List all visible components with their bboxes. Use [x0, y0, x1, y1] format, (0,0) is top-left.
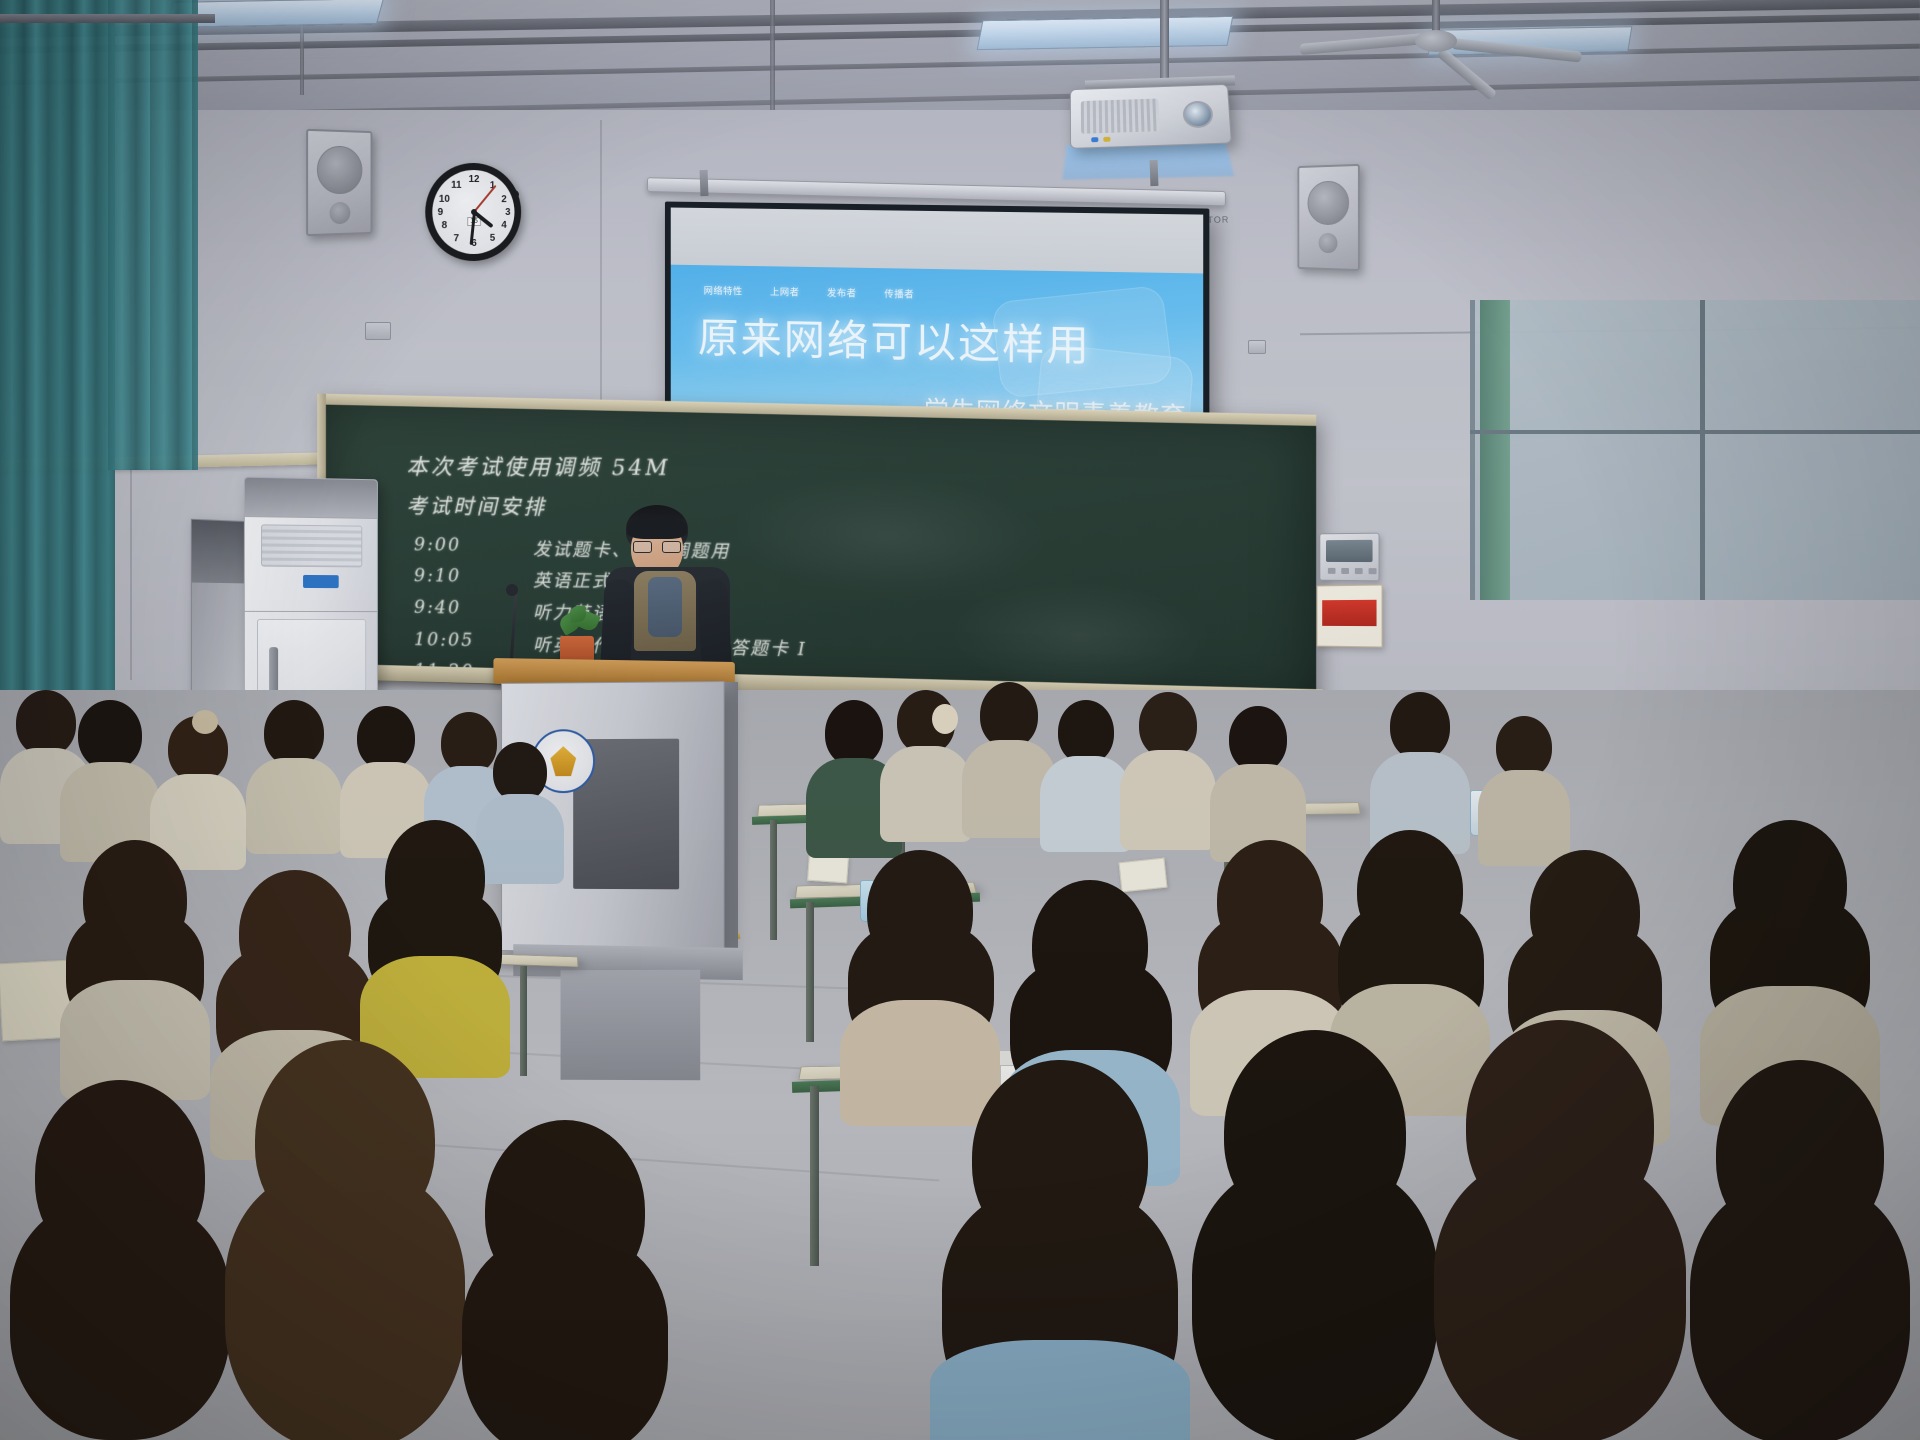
student-head: [825, 700, 883, 766]
student: [880, 690, 972, 840]
wall-safety-notice: [1317, 584, 1383, 647]
projector-power-led: [1091, 137, 1098, 142]
cabinet-top-panel: [245, 478, 377, 518]
wall-seam-vertical-2: [600, 120, 602, 420]
projector-status-led: [1103, 137, 1110, 142]
student: [1210, 706, 1306, 860]
student-body: [1120, 750, 1216, 850]
student-head: [1229, 706, 1287, 772]
window-curtain-left-inner: [108, 0, 198, 470]
window-mullion-1: [1700, 300, 1705, 600]
student-head: [1496, 716, 1552, 778]
clock-center-pin: [471, 209, 477, 215]
classroom-photo: 12 1 2 3 4 5 6 7 8 9 10 11 15 PROJECTOR: [0, 0, 1920, 1440]
hair-bun: [932, 704, 958, 734]
student-hair: [1690, 1184, 1910, 1440]
slide-nav-item-2[interactable]: 发布者: [827, 285, 857, 299]
student: [60, 700, 160, 860]
student-body: [246, 758, 342, 854]
student: [360, 820, 510, 1070]
student: [0, 1080, 240, 1440]
blackboard-line-2: 考试时间安排: [406, 490, 547, 521]
clock-number: 7: [449, 233, 463, 244]
student-hair: [10, 1200, 230, 1440]
clock-number: 9: [433, 207, 447, 218]
wall-speaker-left-icon: [306, 129, 372, 236]
slide-nav-item-3[interactable]: 传播者: [884, 286, 914, 301]
clock-number: 10: [437, 194, 451, 205]
student-hair: [462, 1236, 668, 1440]
projector-lens-icon: [1182, 101, 1213, 129]
schedule-time: 10:05: [414, 629, 477, 656]
podium-pedestal: [561, 970, 701, 1081]
control-panel-button-1[interactable]: [1328, 568, 1336, 574]
ceiling-fan-hub: [1415, 30, 1457, 52]
slide-nav-item-0[interactable]: 网络特性: [704, 283, 743, 298]
student-hair: [1192, 1164, 1438, 1440]
student: [1120, 692, 1216, 848]
schedule-time: 9:40: [414, 597, 477, 624]
slide-nav-item-1[interactable]: 上网者: [770, 284, 799, 298]
desk-leg: [806, 902, 814, 1042]
microphone-icon: [506, 584, 518, 596]
ceiling-pipe-vertical-1: [770, 0, 775, 118]
student-head: [1058, 700, 1114, 764]
glasses-icon: [633, 541, 681, 553]
desk-leg: [520, 966, 527, 1076]
student-head: [493, 742, 547, 802]
student: [1180, 1030, 1450, 1440]
wall-speaker-right-icon: [1297, 164, 1359, 271]
student: [215, 1040, 475, 1440]
clock-number: 2: [497, 194, 510, 205]
clock-number: 3: [501, 207, 514, 218]
student: [1420, 1020, 1700, 1440]
hair-tie: [192, 710, 218, 734]
cabinet-vent-upper: [261, 524, 362, 567]
ceiling-lamp-center: [977, 16, 1234, 50]
blackboard-smudge: [948, 578, 1213, 697]
control-panel-display: [1326, 540, 1373, 562]
wall-outlet-box: [365, 322, 391, 340]
presenter-shirt: [648, 577, 682, 637]
screen-bracket-left: [700, 170, 709, 196]
schedule-time: 9:10: [414, 565, 477, 591]
student: [1040, 700, 1132, 850]
control-panel-button-3[interactable]: [1355, 568, 1363, 574]
student-head: [1139, 692, 1197, 758]
curtain-rod: [0, 14, 215, 23]
side-cabinet-top: [192, 520, 250, 584]
schedule-time: 9:00: [414, 534, 477, 560]
cabinet-handle[interactable]: [269, 647, 278, 693]
notice-red-band: [1322, 600, 1376, 626]
student: [60, 840, 210, 1090]
student: [930, 1060, 1190, 1440]
speaker-cone-small: [1319, 233, 1338, 253]
control-panel-button-2[interactable]: [1341, 568, 1349, 574]
student: [1478, 716, 1570, 864]
blackboard-line-1: 本次考试使用调频 54M: [406, 450, 671, 482]
student-head: [357, 706, 415, 770]
control-panel-button-4[interactable]: [1369, 568, 1377, 574]
speaker-cone-large: [1307, 180, 1349, 225]
glasses-lens-left: [633, 541, 652, 553]
student: [246, 700, 342, 850]
desk-leg: [770, 820, 777, 940]
clock-number: 12: [467, 174, 481, 185]
projector-vent: [1081, 99, 1160, 134]
student-body: [930, 1340, 1190, 1440]
slide-title: 原来网络可以这样用: [698, 316, 1091, 368]
student-head: [78, 700, 142, 770]
presenter-fringe: [627, 517, 687, 539]
desk-leg: [810, 1086, 819, 1266]
student-body: [1040, 756, 1132, 852]
student-body: [880, 746, 972, 842]
right-window: [1470, 300, 1920, 600]
student-hair: [225, 1170, 465, 1440]
student-hair: [1434, 1158, 1686, 1440]
clock-number: 11: [449, 180, 463, 191]
student: [1370, 692, 1470, 852]
glasses-lens-right: [662, 541, 681, 553]
clock-number: 8: [437, 220, 451, 231]
wall-clock: 12 1 2 3 4 5 6 7 8 9 10 11 15: [425, 162, 521, 262]
clock-number: 5: [486, 233, 500, 244]
cabinet-seam: [245, 611, 377, 612]
student: [450, 1120, 680, 1440]
student-head: [980, 682, 1038, 748]
right-window-green-panel: [1480, 300, 1510, 600]
student-head: [1390, 692, 1450, 760]
speaker-cone-small: [330, 202, 351, 224]
clock-number: 4: [497, 220, 510, 231]
av-control-panel[interactable]: [1319, 533, 1379, 582]
window-mullion-2: [1470, 430, 1920, 434]
clock-face: 12 1 2 3 4 5 6 7 8 9 10 11 15: [432, 169, 514, 254]
speaker-cone-large: [317, 145, 362, 194]
cabinet-brand-label: [303, 575, 339, 588]
student: [1680, 1060, 1920, 1440]
blackboard: 本次考试使用调频 54M 考试时间安排 9:00 发试题卡、工时调题用 9:10…: [317, 394, 1316, 710]
blackboard-smudge: [728, 472, 1049, 601]
wall-outlet-box-right: [1248, 340, 1266, 354]
student-head: [264, 700, 324, 766]
projector: [1070, 84, 1232, 149]
projector-mount-rod: [1160, 0, 1169, 84]
slide-nav: 网络特性 上网者 发布者 传播者: [704, 283, 914, 301]
screen-bracket-right: [1150, 160, 1159, 186]
